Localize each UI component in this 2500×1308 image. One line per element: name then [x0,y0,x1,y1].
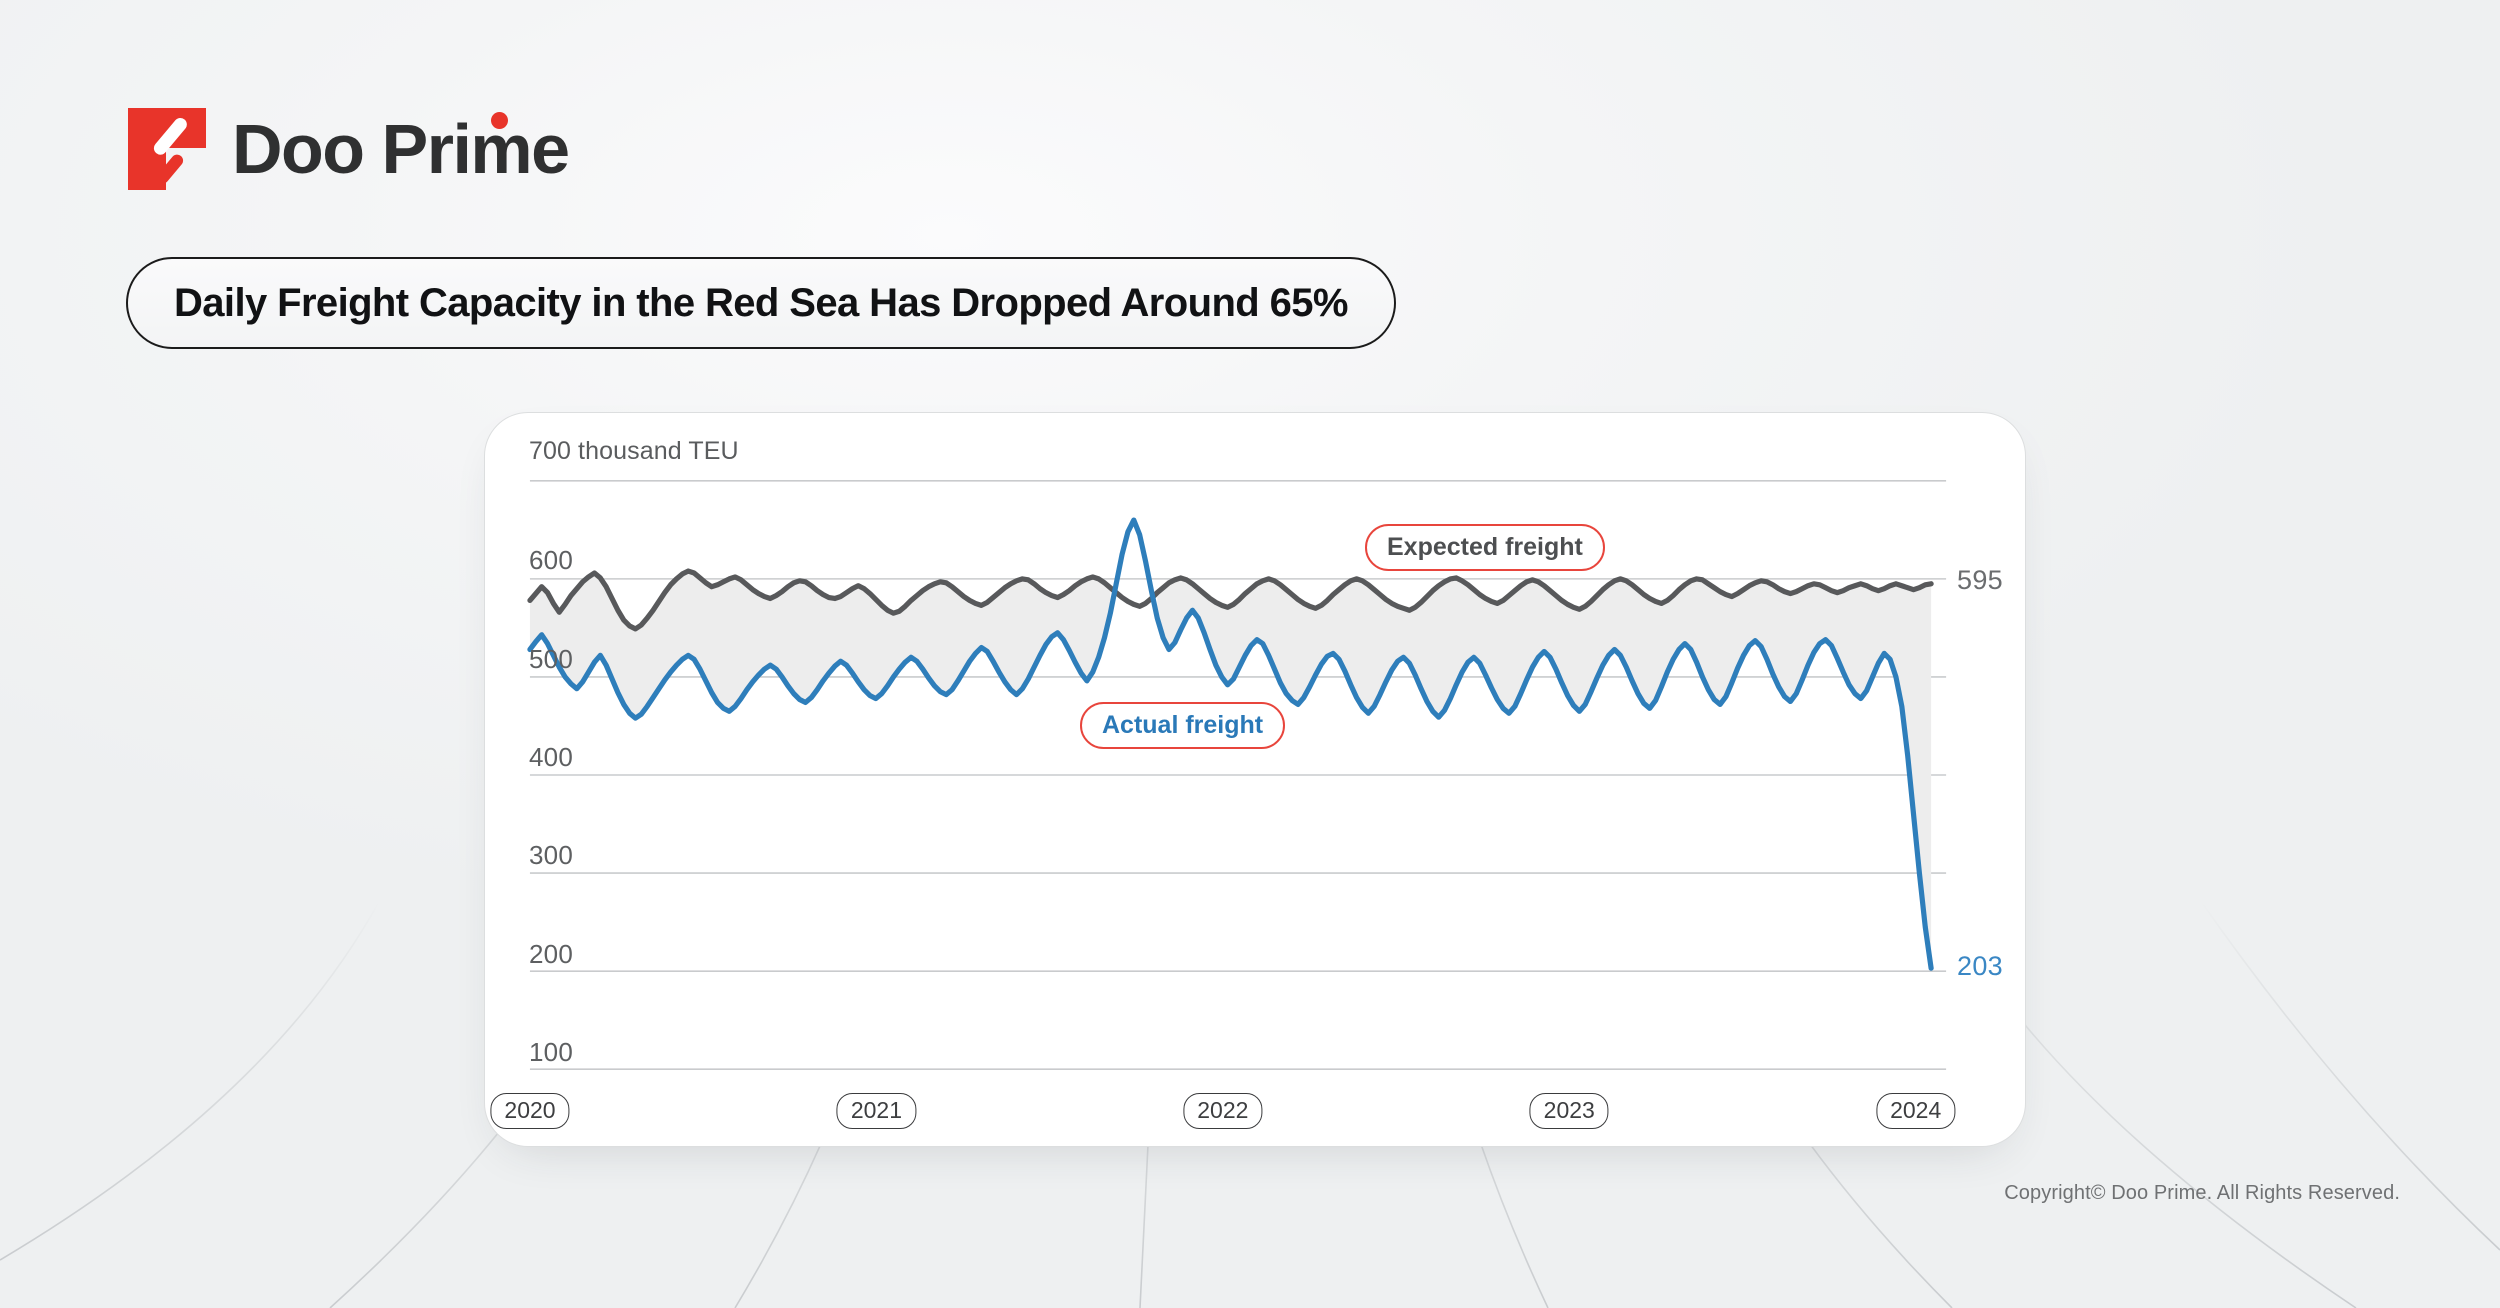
y-tick-300: 300 [529,840,573,871]
doo-prime-flag-logo-icon [128,108,206,190]
x-tick-2022: 2022 [1183,1093,1262,1129]
brand-wordmark: Doo Prime [232,114,569,184]
chart-card: 700 thousand TEU 600500400300200100 2020… [484,412,2026,1147]
page-title: Daily Freight Capacity in the Red Sea Ha… [174,281,1348,326]
expected-freight-label: Expected freight [1365,524,1605,571]
x-tick-2021: 2021 [837,1093,916,1129]
actual-end-value: 203 [1957,951,2003,982]
freight-line-chart [485,413,2025,1146]
logo-accent-dot-icon [491,112,508,129]
x-tick-2020: 2020 [490,1093,569,1129]
x-tick-2023: 2023 [1530,1093,1609,1129]
y-tick-600: 600 [529,545,573,576]
expected-end-value: 595 [1957,565,2003,596]
brand-header: Doo Prime [128,108,569,190]
y-tick-400: 400 [529,742,573,773]
headline-pill: Daily Freight Capacity in the Red Sea Ha… [126,257,1396,349]
y-tick-500: 500 [529,644,573,675]
brand-name-text: Doo Prime [232,110,569,188]
poster-canvas: Doo Prime Daily Freight Capacity in the … [0,0,2500,1308]
y-tick-200: 200 [529,939,573,970]
y-tick-100: 100 [529,1037,573,1068]
actual-freight-label: Actual freight [1080,702,1285,749]
x-tick-2024: 2024 [1876,1093,1955,1129]
copyright-notice: Copyright© Doo Prime. All Rights Reserve… [2004,1182,2400,1205]
